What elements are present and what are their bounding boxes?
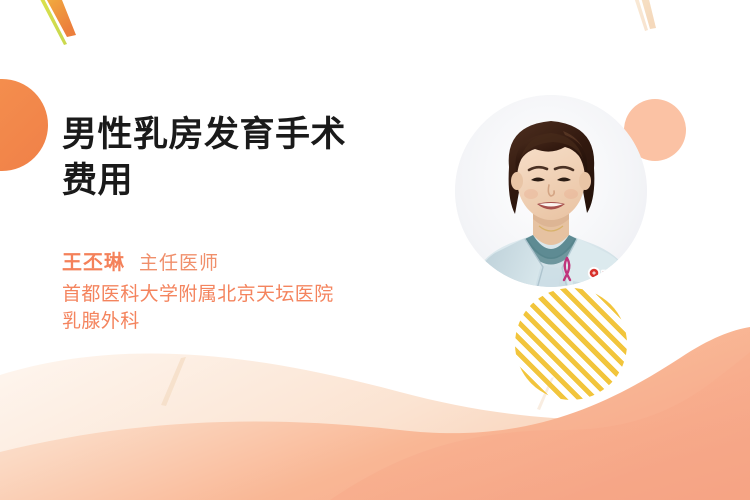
bottom-wave-group xyxy=(0,327,750,500)
streak-faint-topright-2 xyxy=(629,0,648,31)
doctor-department: 乳腺外科 xyxy=(62,309,462,336)
doctor-hospital: 首都医科大学附属北京天坛医院 xyxy=(62,282,462,309)
portrait-circle-frame xyxy=(455,95,647,287)
page-title: 男性乳房发育手术 费用 xyxy=(62,112,432,203)
doctor-name: 王丕琳 xyxy=(62,246,125,275)
streak-group-topleft xyxy=(31,0,76,45)
wave-pale xyxy=(0,353,750,500)
accent-circle-left xyxy=(0,79,48,171)
headline-block: 男性乳房发育手术 费用 xyxy=(62,112,432,203)
poster-canvas: 男性乳房发育手术 费用 王丕琳 主任医师 首都医科大学附属北京天坛医院 乳腺外科 xyxy=(0,0,750,500)
doctor-name-row: 王丕琳 主任医师 xyxy=(62,246,462,275)
doctor-title: 主任医师 xyxy=(139,248,219,275)
doctor-portrait xyxy=(455,95,647,311)
streak-faint-center xyxy=(161,357,186,406)
streak-faint-topright xyxy=(636,0,656,29)
streak-group-topright xyxy=(629,0,656,31)
streak-orange xyxy=(35,0,76,37)
wave-main xyxy=(0,327,750,500)
streak-yellow xyxy=(31,0,67,45)
doctor-info-block: 王丕琳 主任医师 首都医科大学附属北京天坛医院 乳腺外科 xyxy=(62,246,462,336)
portrait-illustration xyxy=(455,95,647,287)
